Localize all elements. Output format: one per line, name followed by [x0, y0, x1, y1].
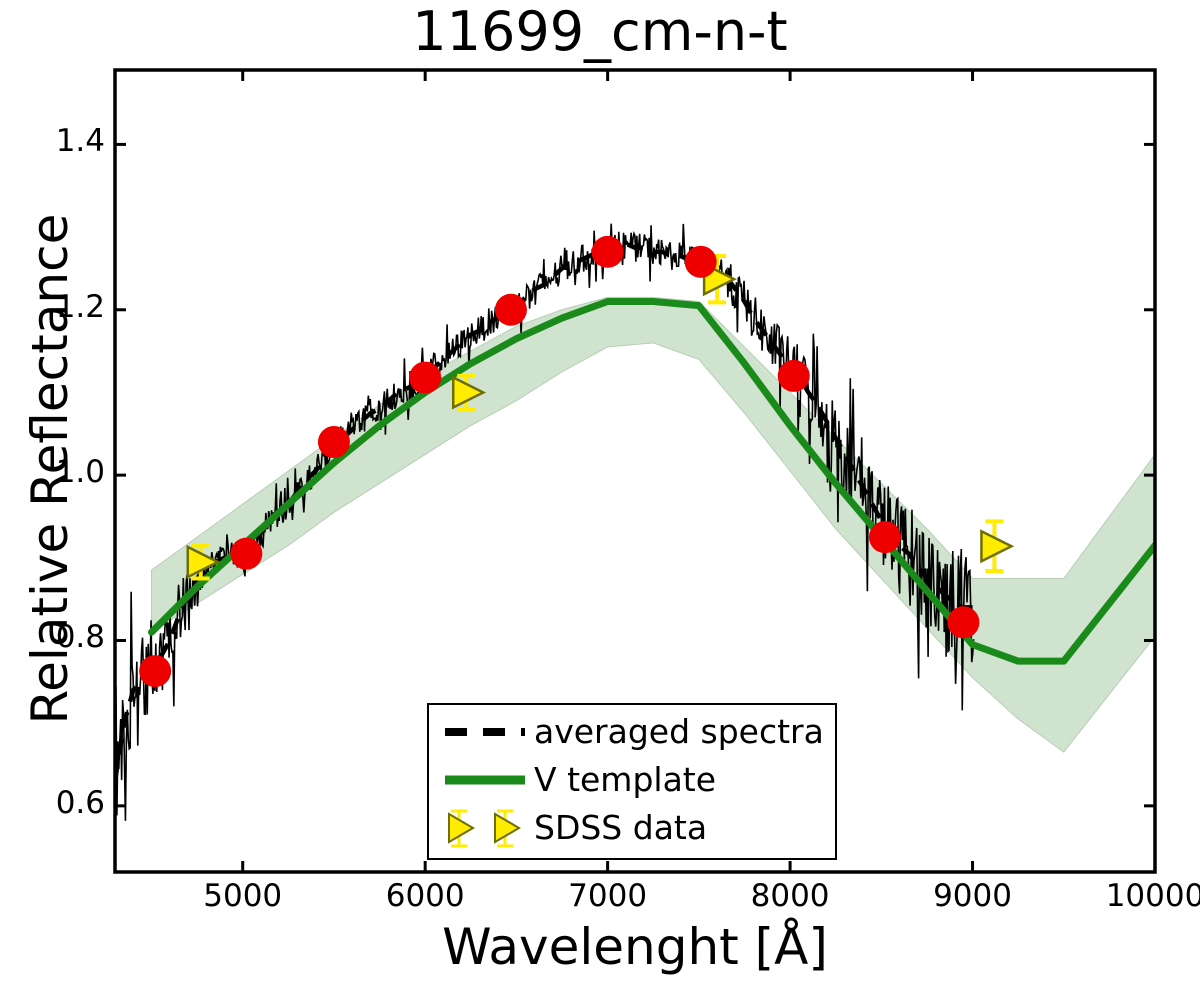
x-tick-label: 8000 [710, 878, 870, 914]
dashed-line-swatch-icon [439, 709, 531, 755]
x-tick-label: 6000 [345, 878, 505, 914]
y-tick-label: 0.8 [5, 619, 105, 655]
y-tick-label: 1.4 [5, 123, 105, 159]
y-tick-label: 0.6 [5, 785, 105, 821]
triangle-marker-swatch-icon [439, 805, 531, 851]
x-tick-label: 10000 [1075, 878, 1200, 914]
y-tick-label: 1.2 [5, 289, 105, 325]
legend-label-v-template: V template [534, 760, 716, 799]
legend: averaged spectra V template SDSS data [427, 703, 837, 860]
x-tick-label: 5000 [163, 878, 323, 914]
solid-line-swatch-icon [439, 757, 531, 803]
legend-label-averaged-spectra: averaged spectra [534, 712, 824, 751]
x-tick-label: 9000 [893, 878, 1053, 914]
x-tick-label: 7000 [528, 878, 688, 914]
legend-item-v-template: V template [429, 757, 839, 803]
y-tick-label: 1.0 [5, 454, 105, 490]
legend-item-averaged-spectra: averaged spectra [429, 709, 839, 755]
reflectance-spectrum-figure: 11699_cm-n-t Relative Reflectance Wavele… [0, 0, 1200, 994]
legend-label-sdss-data: SDSS data [534, 808, 707, 847]
legend-item-sdss-data: SDSS data [429, 805, 839, 851]
